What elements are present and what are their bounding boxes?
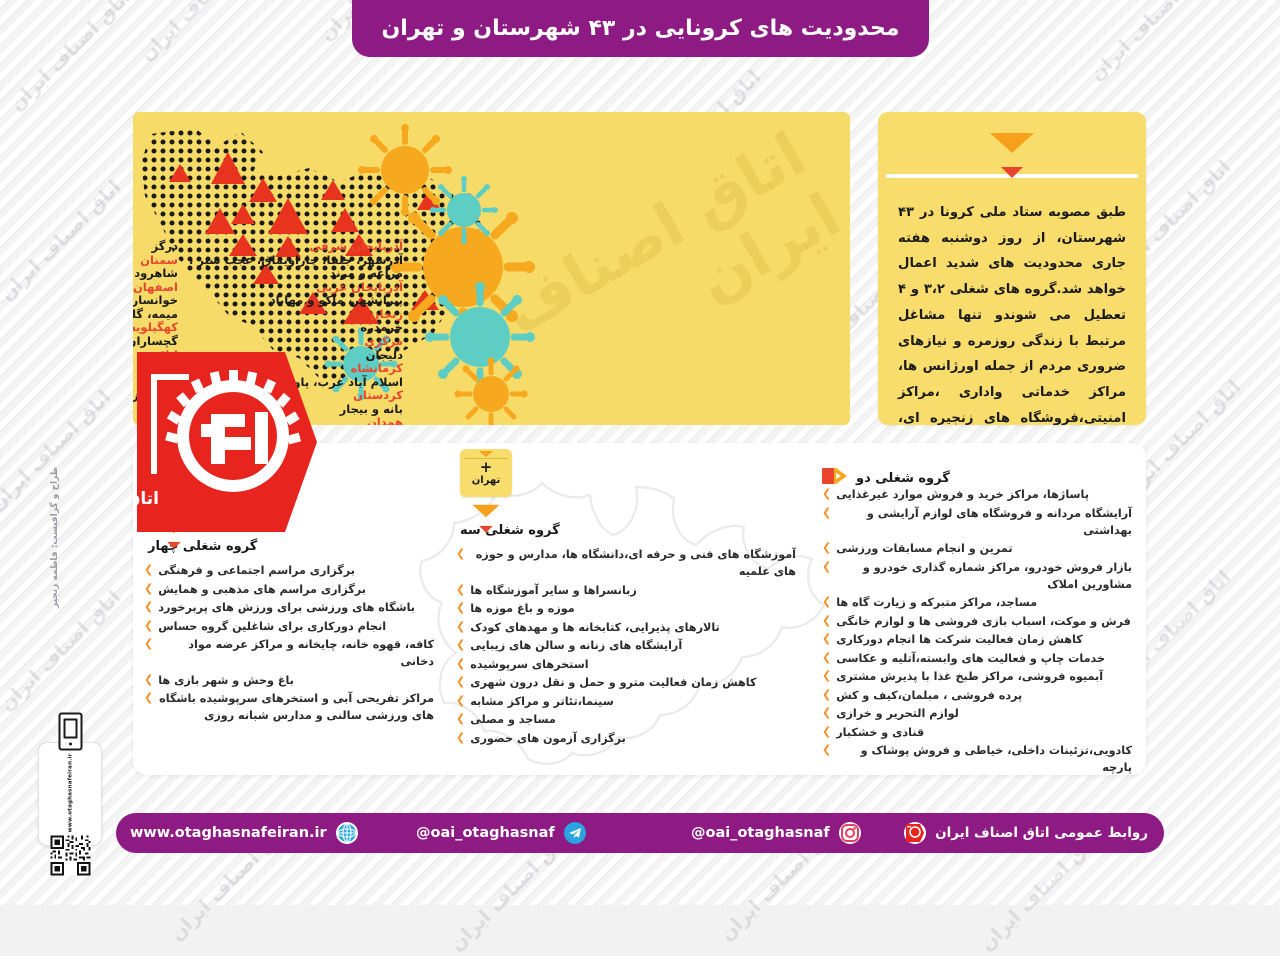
list-item-label: مراکز تفریحی آبی و استخرهای سرپوشیده باش… [158, 690, 434, 724]
group-three-list: آموزشگاه های فنی و حرفه ای،دانشگاه ها، م… [456, 546, 796, 747]
arrow-down-icon [472, 505, 499, 517]
list-item-label: آموزشگاه های فنی و حرفه ای،دانشگاه ها، م… [470, 546, 796, 580]
list-item-label: کادویی،تزئینات داخلی، خیاطی و فروش پوشاک… [836, 742, 1132, 775]
footer-org: روابط عمومی اتاق اصناف ایران [904, 813, 1148, 853]
list-item-label: سینما،تئاتر و مراکز مشابه [470, 693, 614, 710]
chevron-left-icon: ❯ [822, 668, 831, 685]
globe-icon [336, 822, 358, 844]
chevron-left-icon: ❯ [456, 637, 465, 654]
list-item: قنادی و خشکبار❯ [822, 724, 1132, 741]
province-cities: آذرشهر، جلفا، چاراویماق، عجب شیر ، مراغه… [188, 254, 403, 281]
list-item-label: آبمیوه فروشی، مراکز طبخ غذا با پذیرش مشت… [836, 668, 1103, 685]
designer-credit-text: طراح و گرافیست: فاطمه زنجیر [50, 467, 60, 608]
chevron-left-icon: ❯ [822, 559, 831, 576]
list-item: استخرهای سرپوشیده❯ [456, 656, 796, 673]
qr-url-label: www.otaghasnafeiran.ir [67, 754, 73, 833]
chevron-left-icon: ❯ [456, 674, 465, 691]
chevron-left-icon: ❯ [822, 687, 831, 704]
province-name: سمنان [133, 254, 178, 268]
list-item: باشگاه های ورزشی برای ورزش های پربرخورد❯ [144, 599, 434, 616]
page-title: محدودیت های کرونایی در ۴۳ شهرستان و تهرا… [382, 16, 900, 41]
list-item: آموزشگاه های فنی و حرفه ای،دانشگاه ها، م… [456, 546, 796, 580]
list-item-label: بازار فروش خودرو، مراکز شماره گذاری خودر… [836, 559, 1132, 593]
footer-website[interactable]: www.otaghasnafeiran.ir [130, 813, 358, 853]
list-item-label: استخرهای سرپوشیده [470, 656, 588, 673]
list-item-label: کاهش زمان فعالیت مترو و حمل و نقل درون ش… [470, 674, 756, 691]
chevron-left-icon: ❯ [822, 505, 831, 522]
chevron-left-icon: ❯ [456, 711, 465, 728]
chevron-left-icon: ❯ [822, 613, 831, 630]
chevron-left-icon: ❯ [822, 705, 831, 722]
list-item: آرایشگاه مردانه و فروشگاه های لوازم آرای… [822, 505, 1132, 539]
province-name: آذربایجان شرقی [188, 240, 403, 254]
list-item: کافه، قهوه خانه، چایخانه و مراکز عرضه مو… [144, 636, 434, 670]
summary-note-card: طبق مصوبه ستاد ملی کرونا در ۴۳ شهرستان، … [878, 112, 1146, 425]
chevron-left-icon: ❯ [456, 693, 465, 710]
chevron-left-icon: ❯ [144, 690, 153, 707]
group-two-list: پاساژها، مراکز خرید و فروش موارد غیرغذای… [822, 486, 1132, 775]
province-name: آذربایجان غربی [188, 281, 403, 295]
group-two-title: گروه شغلی دو [856, 471, 950, 486]
list-item: تالارهای پذیرایی، کتابخانه ها و مهدهای ک… [456, 619, 796, 636]
list-item-label: آرایشگاه های زنانه و سالن های زیبایی [470, 637, 682, 654]
list-item: تمرین و انجام مسابقات ورزشی❯ [822, 540, 1132, 557]
virus-icon [455, 358, 528, 426]
chevron-left-icon: ❯ [822, 486, 831, 503]
list-item: آبمیوه فروشی، مراکز طبخ غذا با پذیرش مشت… [822, 668, 1132, 685]
group-two: گروه شغلی دو پاساژها، مراکز خرید و فروش … [822, 465, 1132, 775]
chevron-left-icon: ❯ [144, 562, 153, 579]
list-item-label: باغ وحش و شهر بازی ها [158, 672, 294, 689]
list-item-label: انجام دورکاری برای شاغلین گروه حساس [158, 618, 386, 635]
list-item: مساجد و مصلی❯ [456, 711, 796, 728]
organization-logo-icon [904, 822, 926, 844]
list-item: مراکز تفریحی آبی و استخرهای سرپوشیده باش… [144, 690, 434, 724]
footer-telegram-label: @oai_otaghasnaf [416, 825, 555, 841]
footer-instagram[interactable]: @oai_otaghasnaf [691, 813, 861, 853]
list-item-label: خدمات چاپ و فعالیت های وابسته،آتلیه و عک… [836, 650, 1105, 667]
list-item: موزه و باغ موزه ها❯ [456, 600, 796, 617]
list-item-label: مساجد و مصلی [470, 711, 556, 728]
group-four-title: گروه شغلی چهار [144, 539, 434, 554]
list-item: کاهش زمان فعالیت شرکت ها انجام دورکاری❯ [822, 631, 1132, 648]
list-item: کاهش زمان فعالیت مترو و حمل و نقل درون ش… [456, 674, 796, 691]
list-item-label: لوازم التحریر و خرازی [836, 705, 959, 722]
list-item: برگزاری مراسم اجتماعی و فرهنگی❯ [144, 562, 434, 579]
list-item: لوازم التحریر و خرازی❯ [822, 705, 1132, 722]
chevron-left-icon: ❯ [822, 742, 831, 759]
list-item: بازار فروش خودرو، مراکز شماره گذاری خودر… [822, 559, 1132, 593]
chevron-left-icon: ❯ [456, 619, 465, 636]
chevron-left-icon: ❯ [822, 594, 831, 611]
list-item: باغ وحش و شهر بازی ها❯ [144, 672, 434, 689]
chevron-left-icon: ❯ [822, 724, 831, 741]
list-item-label: کاهش زمان فعالیت شرکت ها انجام دورکاری [836, 631, 1083, 648]
chevron-left-icon: ❯ [822, 540, 831, 557]
province-cities: پیرانشهر، ماکو و مهاباد [188, 294, 403, 308]
list-item: فرش و موکت، اسباب بازی فروشی ها و لوازم … [822, 613, 1132, 630]
telegram-icon [564, 822, 586, 844]
province-name: مرکزی [188, 335, 403, 349]
list-item-label: قنادی و خشکبار [836, 724, 924, 741]
group-two-header: گروه شغلی دو [822, 465, 1132, 486]
list-item: سینما،تئاتر و مراکز مشابه❯ [456, 693, 796, 710]
footer-bar: www.otaghasnafeiran.ir @oai_otaghasnaf @… [116, 813, 1164, 853]
chevron-left-icon: ❯ [144, 581, 153, 598]
qr-code-icon [50, 836, 90, 876]
group-four-list: برگزاری مراسم اجتماعی و فرهنگی❯برگزاری م… [144, 562, 434, 724]
group-three-tehran-badge: + تهران [460, 449, 512, 497]
footer-telegram[interactable]: @oai_otaghasnaf [416, 813, 586, 853]
chevron-left-icon: ❯ [144, 599, 153, 616]
group-three: + تهران گروه شغلی سه آموزشگاه های فنی و … [456, 449, 796, 748]
list-item-label: باشگاه های ورزشی برای ورزش های پربرخورد [158, 599, 415, 616]
chevron-left-icon: ❯ [144, 672, 153, 689]
group-three-city: تهران [472, 475, 501, 486]
list-item: برگزاری آزمون های حضوری❯ [456, 730, 796, 747]
chevron-left-icon: ❯ [456, 730, 465, 747]
list-item-label: کافه، قهوه خانه، چایخانه و مراکز عرضه مو… [158, 636, 434, 670]
note-body-text: طبق مصوبه ستاد ملی کرونا در ۴۳ شهرستان، … [878, 178, 1146, 425]
instagram-icon [839, 822, 861, 844]
list-item: خدمات چاپ و فعالیت های وابسته،آتلیه و عک… [822, 650, 1132, 667]
province-cities: درگز [133, 240, 178, 254]
list-item: زبانسراها و سایر آموزشگاه ها❯ [456, 582, 796, 599]
list-item-label: برگزاری آزمون های حضوری [470, 730, 626, 747]
province-name: زنجان [188, 308, 403, 322]
province-cities: گچساران [133, 335, 178, 349]
list-item-label: پاساژها، مراکز خرید و فروش موارد غیرغذای… [836, 486, 1089, 503]
chevron-left-icon: ❯ [822, 650, 831, 667]
group-three-title: گروه شغلی سه [456, 523, 796, 538]
chevron-left-icon: ❯ [456, 546, 465, 563]
arrow-down-icon [990, 133, 1034, 153]
chevron-left-icon: ❯ [456, 656, 465, 673]
chevron-left-icon: ❯ [456, 600, 465, 617]
qr-code-card[interactable]: www.otaghasnafeiran.ir [38, 742, 102, 846]
chevron-double-left-icon [822, 466, 848, 486]
list-item-label: آرایشگاه مردانه و فروشگاه های لوازم آرای… [836, 505, 1132, 539]
province-cities: خرمدره [188, 321, 403, 335]
note-header [878, 112, 1146, 174]
chevron-left-icon: ❯ [144, 636, 153, 653]
footer-org-label: روابط عمومی اتاق اصناف ایران [935, 825, 1148, 841]
list-item: مساجد، مراکز متبرکه و زیارت گاه ها❯ [822, 594, 1132, 611]
list-item-label: زبانسراها و سایر آموزشگاه ها [470, 582, 637, 599]
virus-icon [358, 124, 452, 216]
badge-notch-icon [479, 451, 493, 457]
province-cities: خوانسار، سمیرم، شاهین شهر و میمه، گلپایگ… [133, 294, 178, 321]
list-item-label: پرده فروشی ، مبلمان،کیف و کش [836, 687, 1022, 704]
otagh-asnaf-logo: اتاق اصناف ایران [137, 352, 317, 532]
chevron-left-icon: ❯ [822, 631, 831, 648]
list-item: انجام دورکاری برای شاغلین گروه حساس❯ [144, 618, 434, 635]
list-item: آرایشگاه های زنانه و سالن های زیبایی❯ [456, 637, 796, 654]
chevron-left-icon: ❯ [456, 582, 465, 599]
virus-icon [425, 282, 535, 392]
title-banner: محدودیت های کرونایی در ۴۳ شهرستان و تهرا… [352, 0, 929, 57]
province-cities: شاهرود [133, 267, 178, 281]
footer-website-label: www.otaghasnafeiran.ir [130, 825, 327, 841]
svg-text:اتاق اصناف ایران: اتاق اصناف ایران [137, 489, 159, 509]
chevron-left-icon: ❯ [144, 618, 153, 635]
list-item: برگزاری مراسم های مذهبی و همایش❯ [144, 581, 434, 598]
list-item: پرده فروشی ، مبلمان،کیف و کش❯ [822, 687, 1132, 704]
group-three-plus: + [480, 460, 493, 475]
list-item-label: برگزاری مراسم های مذهبی و همایش [158, 581, 366, 598]
list-item-label: مساجد، مراکز متبرکه و زیارت گاه ها [836, 594, 1037, 611]
phone-scan-icon [58, 713, 82, 751]
footer-instagram-label: @oai_otaghasnaf [691, 825, 830, 841]
list-item: پاساژها، مراکز خرید و فروش موارد غیرغذای… [822, 486, 1132, 503]
list-item: کادویی،تزئینات داخلی، خیاطی و فروش پوشاک… [822, 742, 1132, 775]
province-name: اصفهان [133, 281, 178, 295]
list-item-label: برگزاری مراسم اجتماعی و فرهنگی [158, 562, 355, 579]
list-item-label: تمرین و انجام مسابقات ورزشی [836, 540, 1012, 557]
virus-icon [430, 176, 498, 244]
list-item-label: موزه و باغ موزه ها [470, 600, 575, 617]
list-item-label: فرش و موکت، اسباب بازی فروشی ها و لوازم … [836, 613, 1131, 630]
province-name: کهگیلویه و بویراحمد [133, 321, 178, 335]
list-item-label: تالارهای پذیرایی، کتابخانه ها و مهدهای ک… [470, 619, 720, 636]
